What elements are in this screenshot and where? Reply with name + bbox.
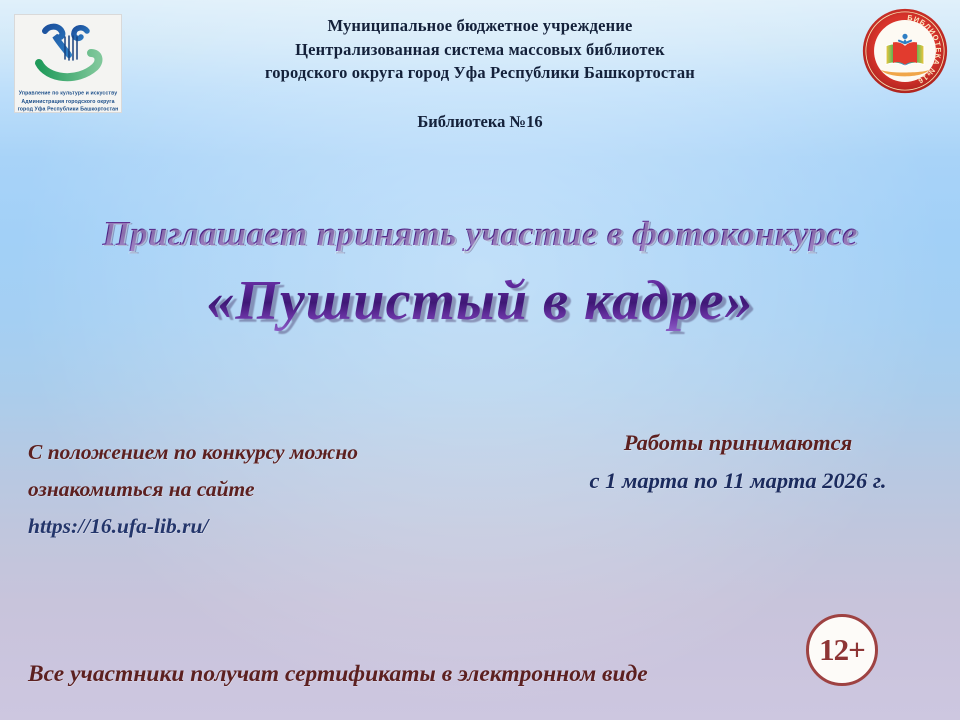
branch-name: Библиотека №16 <box>170 112 790 132</box>
culture-department-emblem <box>25 19 111 85</box>
culture-logo-caption-line3: город Уфа Республики Башкортостан <box>0 106 139 114</box>
organization-title-line3: городского округа город Уфа Республики Б… <box>170 61 790 85</box>
organization-title-line2: Централизованная система массовых библио… <box>170 38 790 62</box>
contest-website-url[interactable]: https://16.ufa-lib.ru/ <box>28 508 498 545</box>
rules-line-1: С положением по конкурсу можно <box>28 434 498 471</box>
certificate-note: Все участники получат сертификаты в элек… <box>28 660 788 688</box>
invite-line: Приглашает принять участие в фотоконкурс… <box>0 216 960 251</box>
poster-canvas: Управление по культуре и искусству Админ… <box>0 0 960 720</box>
culture-logo-caption-line1: Управление по культуре и искусству <box>0 90 139 98</box>
dates-line-1: Работы принимаются <box>538 424 938 462</box>
poster-header: Управление по культуре и искусству Админ… <box>0 0 960 150</box>
dates-line-2: с 1 марта по 11 марта 2026 г. <box>538 462 938 500</box>
age-rating-badge: 12+ <box>806 614 878 686</box>
library-round-emblem: БИБЛИОТЕКА №16 <box>862 8 948 94</box>
organization-title-line1: Муниципальное бюджетное учреждение <box>170 14 790 38</box>
rules-line-2: ознакомиться на сайте <box>28 471 498 508</box>
age-rating-label: 12+ <box>819 634 865 665</box>
contest-title: «Пушистый в кадре» <box>0 272 960 331</box>
culture-logo-caption: Управление по культуре и искусству Админ… <box>0 90 139 114</box>
culture-department-logo: Управление по культуре и искусству Админ… <box>14 14 122 113</box>
organization-title: Муниципальное бюджетное учреждение Центр… <box>170 14 790 85</box>
culture-logo-caption-line2: Администрация городского округа <box>0 98 139 106</box>
submission-dates-block: Работы принимаются с 1 марта по 11 марта… <box>538 424 938 500</box>
rules-info-block: С положением по конкурсу можно ознакомит… <box>28 434 498 545</box>
